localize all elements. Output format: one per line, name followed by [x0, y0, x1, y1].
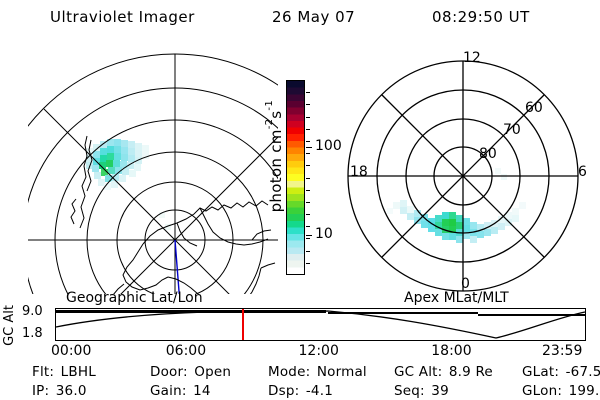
status-label: Gain:: [150, 383, 187, 399]
mlat-label-60: 60: [525, 100, 543, 116]
colorbar-minor-tick: [306, 92, 310, 93]
colorbar-minor-tick: [306, 117, 310, 118]
observation-date: 26 May 07: [272, 8, 355, 26]
mlat-degree-labels: 607080: [479, 100, 543, 162]
colorbar: [286, 80, 305, 275]
apex-panel-caption: Apex MLat/MLT: [404, 290, 509, 306]
status-field-dsp: Dsp: -4.1: [268, 383, 394, 399]
colorbar-axis-label: photon cm-2s-1: [264, 100, 284, 212]
colorbar-minor-tick: [306, 226, 310, 227]
colorbar-unit-mid: s: [267, 111, 285, 119]
mlt-spokes: [348, 61, 578, 291]
status-field-gain: Gain: 14: [150, 383, 268, 399]
page-title: Ultraviolet Imager: [50, 8, 195, 26]
status-field-gc-alt: GC Alt: 8.9 Re: [394, 364, 522, 380]
mlat-label-70: 70: [503, 122, 521, 138]
colorbar-tick-mark: [306, 147, 312, 148]
mlat-label-80: 80: [479, 146, 497, 162]
apex-mlt-dial-plot[interactable]: 126018 607080: [345, 50, 585, 290]
status-label: Seq:: [394, 383, 425, 399]
status-label: IP:: [32, 383, 49, 399]
status-label: Flt:: [32, 364, 54, 380]
status-value: 8.9 Re: [444, 364, 493, 380]
altitude-xtick-06:00: 06:00: [166, 343, 206, 359]
status-field-ip: IP: 36.0: [32, 383, 150, 399]
mlt-label-12: 12: [463, 50, 481, 66]
colorbar-tick-label-100: 100: [315, 138, 342, 154]
status-field-glat: GLat: -67.5: [522, 364, 600, 380]
colorbar-unit-main: photon cm: [267, 129, 285, 212]
altitude-xtick-18:00: 18:00: [431, 343, 471, 359]
status-value: 36.0: [51, 383, 86, 399]
observation-time: 08:29:50 UT: [432, 8, 530, 26]
status-value: -67.5: [561, 364, 600, 380]
geographic-polar-plot[interactable]: [28, 44, 278, 294]
status-value: 14: [189, 383, 211, 399]
colorbar-minor-tick: [306, 251, 310, 252]
colorbar-minor-tick: [306, 165, 310, 166]
colorbar-tick-mark: [306, 235, 312, 236]
altitude-ytick-high: 9.0: [22, 304, 43, 319]
colorbar-minor-tick: [306, 263, 310, 264]
colorbar-unit-sup1: -2: [264, 119, 275, 130]
status-value: Normal: [312, 364, 367, 380]
status-value: -4.1: [301, 383, 333, 399]
apex-dial-svg: 126018 607080: [345, 50, 585, 290]
status-field-door: Door: Open: [150, 364, 268, 380]
colorbar-minor-tick: [306, 129, 310, 130]
mlt-label-6: 6: [578, 164, 587, 180]
colorbar-minor-tick: [306, 214, 310, 215]
geographic-panel-caption: Geographic Lat/Lon: [66, 290, 203, 306]
altitude-xtick-00:00: 00:00: [51, 343, 91, 359]
status-label: Door:: [150, 364, 188, 380]
colorbar-minor-tick: [306, 104, 310, 105]
altitude-ytick-low: 1.8: [22, 326, 43, 341]
status-value: 39: [427, 383, 449, 399]
mlt-label-18: 18: [350, 164, 368, 180]
altitude-curve-svg: [56, 309, 585, 340]
geographic-map-svg: [28, 44, 278, 294]
altitude-xtick-23:59: 23:59: [542, 343, 582, 359]
colorbar-minor-tick: [306, 153, 310, 154]
status-field-seq: Seq: 39: [394, 383, 522, 399]
colorbar-minor-tick: [306, 178, 310, 179]
colorbar-minor-tick: [306, 202, 310, 203]
status-bar: Flt: LBHLDoor: OpenMode: NormalGC Alt: 8…: [32, 364, 592, 399]
status-field-glon: GLon: 199.5: [522, 383, 600, 399]
time-cursor[interactable]: [242, 309, 244, 340]
altitude-axis-label: GC Alt: [2, 305, 18, 346]
status-label: GLat:: [522, 364, 559, 380]
status-field-mode: Mode: Normal: [268, 364, 394, 380]
status-field-flt: Flt: LBHL: [32, 364, 150, 380]
altitude-xtick-12:00: 12:00: [299, 343, 339, 359]
colorbar-tick-label-10: 10: [315, 226, 333, 242]
colorbar-unit-sup2: -1: [264, 100, 275, 111]
status-value: LBHL: [56, 364, 96, 380]
status-label: Dsp:: [268, 383, 299, 399]
status-value: 199.5: [564, 383, 600, 399]
status-label: Mode:: [268, 364, 310, 380]
status-label: GLon:: [522, 383, 562, 399]
status-label: GC Alt:: [394, 364, 442, 380]
colorbar-minor-tick: [306, 238, 310, 239]
colorbar-minor-tick: [306, 141, 310, 142]
colorbar-gradient: [286, 80, 305, 275]
altitude-timeline-plot[interactable]: [55, 308, 586, 341]
status-value: Open: [190, 364, 231, 380]
colorbar-minor-tick: [306, 190, 310, 191]
